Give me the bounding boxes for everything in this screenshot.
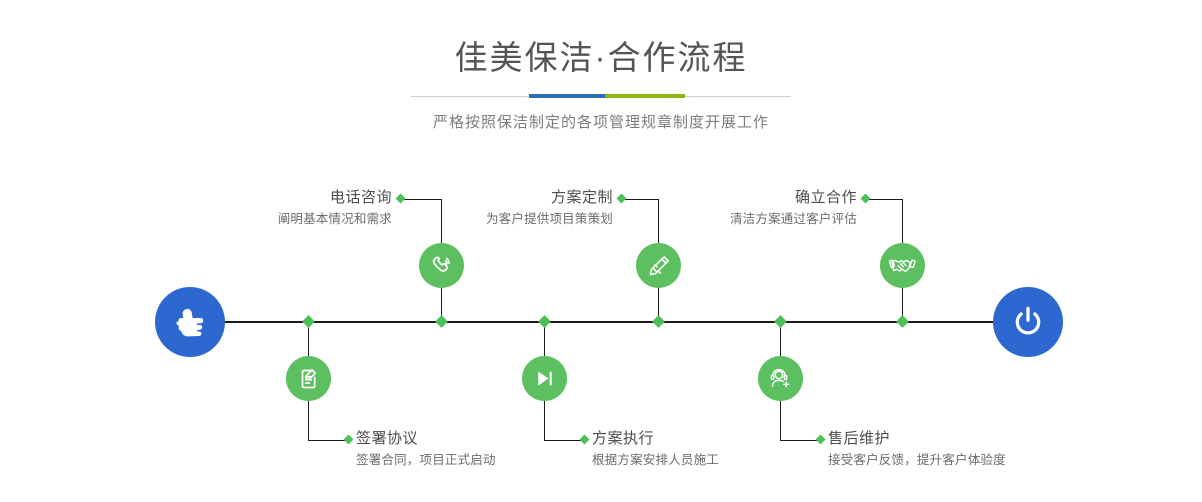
axis-diamond-1 (435, 315, 448, 328)
step-label-3: 方案定制 为客户提供项目策策划 (330, 188, 613, 229)
step-connector-hline-5 (866, 199, 903, 200)
step-node-3[interactable] (636, 243, 681, 288)
pencil-ruler-icon (646, 253, 672, 279)
document-edit-icon (296, 366, 322, 392)
timeline-end-endpoint[interactable] (993, 287, 1063, 357)
step-label-diamond-2 (344, 435, 354, 445)
step-title-5: 确立合作 (575, 188, 857, 208)
axis-diamond-2 (302, 315, 315, 328)
step-desc-6: 接受客户反馈，提升客户体验度 (828, 449, 1158, 470)
process-flow-infographic: 佳美保洁·合作流程 严格按照保洁制定的各项管理规章制度开展工作 (0, 0, 1202, 502)
power-icon (1009, 303, 1047, 341)
step-title-3: 方案定制 (330, 188, 613, 208)
axis-diamond-6 (774, 315, 787, 328)
handshake-icon (889, 252, 916, 279)
axis-diamond-5 (896, 315, 909, 328)
step-connector-hline-2 (308, 440, 349, 441)
customer-support-add-icon (768, 366, 794, 392)
pointing-hand-icon (172, 304, 208, 340)
step-label-5: 确立合作 清洁方案通过客户评估 (575, 188, 857, 229)
play-next-icon (532, 366, 557, 391)
step-node-6[interactable] (758, 356, 803, 401)
axis-diamond-3 (652, 315, 665, 328)
phone-call-icon (429, 253, 455, 279)
step-label-diamond-5 (861, 194, 871, 204)
timeline: 电话咨询 阐明基本情况和需求 签署协议 签署合同，项目正式启动 (0, 0, 1202, 502)
step-node-1[interactable] (419, 243, 464, 288)
step-node-5[interactable] (880, 243, 925, 288)
timeline-start-endpoint[interactable] (155, 287, 225, 357)
step-desc-5: 清洁方案通过客户评估 (575, 208, 857, 229)
step-title-6: 售后维护 (828, 429, 1158, 449)
step-desc-3: 为客户提供项目策策划 (330, 208, 613, 229)
step-node-4[interactable] (522, 356, 567, 401)
axis-diamond-4 (538, 315, 551, 328)
step-node-2[interactable] (286, 356, 331, 401)
step-label-6: 售后维护 接受客户反馈，提升客户体验度 (828, 429, 1158, 470)
